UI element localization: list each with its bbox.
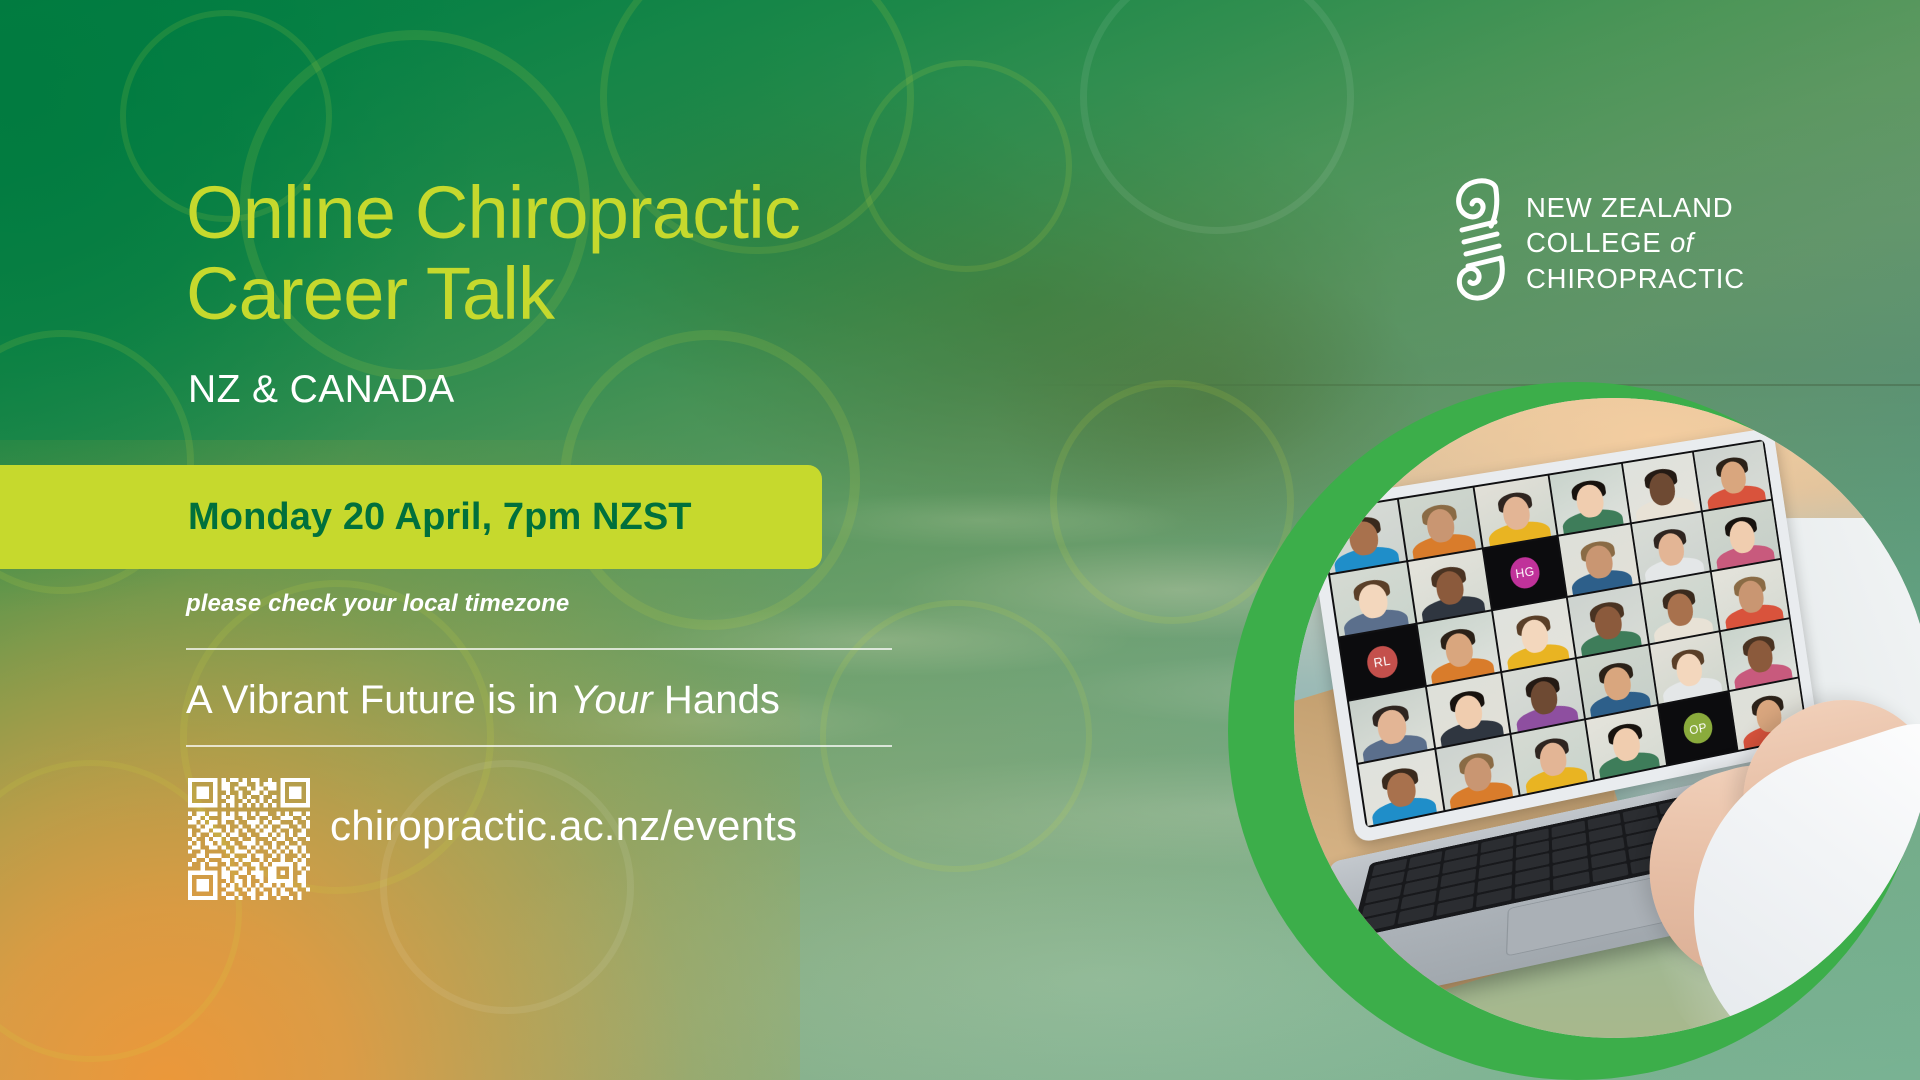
participant-avatar: HG <box>1508 555 1542 590</box>
video-tile-participant[interactable] <box>1436 735 1519 810</box>
divider-bottom <box>186 745 892 747</box>
video-tile-participant[interactable] <box>1712 560 1789 630</box>
video-tile-participant[interactable] <box>1586 706 1666 779</box>
video-tile-participant[interactable] <box>1408 550 1491 623</box>
poster-canvas: Online Chiropractic Career Talk NZ & CAN… <box>0 0 1920 1080</box>
video-tile-participant[interactable] <box>1559 525 1639 596</box>
page-title: Online Chiropractic Career Talk <box>186 172 946 335</box>
region-subtitle: NZ & CANADA <box>188 368 455 412</box>
content-column: Online Chiropractic Career Talk NZ & CAN… <box>0 0 960 1080</box>
logo-wordmark: NEW ZEALAND COLLEGE of CHIROPRACTIC <box>1526 178 1745 296</box>
video-tile-participant[interactable] <box>1632 512 1710 582</box>
date-banner: Monday 20 April, 7pm NZST <box>0 465 822 569</box>
video-tile-participant[interactable] <box>1641 572 1719 643</box>
logo-line-2-main: COLLEGE <box>1526 227 1670 258</box>
tagline-part-2: Hands <box>653 678 780 722</box>
video-tile-participant[interactable] <box>1399 488 1482 560</box>
video-tile-participant[interactable] <box>1493 598 1574 671</box>
qr-code[interactable] <box>188 778 310 900</box>
video-tile-participant[interactable] <box>1550 464 1630 535</box>
event-date-time: Monday 20 April, 7pm NZST <box>188 496 692 539</box>
video-tile-participant[interactable] <box>1721 619 1798 690</box>
laptop-circle-graphic: HGRLOP <box>1228 382 1920 1080</box>
logo-line-3: CHIROPRACTIC <box>1526 261 1745 296</box>
video-tile-participant[interactable] <box>1321 500 1406 573</box>
video-tile-participant[interactable] <box>1577 646 1657 719</box>
video-tile-participant[interactable] <box>1417 611 1500 685</box>
logo-line-1: NEW ZEALAND <box>1526 190 1745 225</box>
video-tile-participant[interactable] <box>1330 562 1415 636</box>
brand-logo: NEW ZEALAND COLLEGE of CHIROPRACTIC <box>1452 178 1745 316</box>
video-tile-participant[interactable] <box>1512 720 1593 794</box>
timezone-note: please check your local timezone <box>186 590 569 618</box>
divider-top <box>186 648 892 650</box>
video-tile-participant[interactable] <box>1503 659 1584 732</box>
video-tile-participant[interactable] <box>1650 632 1728 704</box>
video-tile-participant[interactable] <box>1694 441 1771 510</box>
logo-line-2: COLLEGE of <box>1526 225 1745 260</box>
tagline-part-1: A Vibrant Future is in <box>186 678 570 722</box>
video-tile-initials[interactable]: RL <box>1340 625 1425 700</box>
video-tile-participant[interactable] <box>1703 501 1780 571</box>
tagline: A Vibrant Future is in Your Hands <box>186 678 780 723</box>
tagline-emphasis: Your <box>570 678 653 722</box>
participant-avatar: RL <box>1365 644 1400 680</box>
participant-avatar: OP <box>1682 711 1714 746</box>
video-tile-participant[interactable] <box>1623 453 1701 523</box>
koru-spiral-icon <box>1452 178 1510 316</box>
video-tile-initials[interactable]: OP <box>1659 692 1737 764</box>
video-call-photo: HGRLOP <box>1294 398 1920 1038</box>
video-tile-initials[interactable]: HG <box>1484 537 1566 609</box>
video-tile-participant[interactable] <box>1358 750 1443 826</box>
logo-line-2-of: of <box>1670 227 1693 258</box>
website-url[interactable]: chiropractic.ac.nz/events <box>330 802 797 850</box>
video-tile-participant[interactable] <box>1475 476 1557 548</box>
video-tile-participant[interactable] <box>1568 585 1648 657</box>
